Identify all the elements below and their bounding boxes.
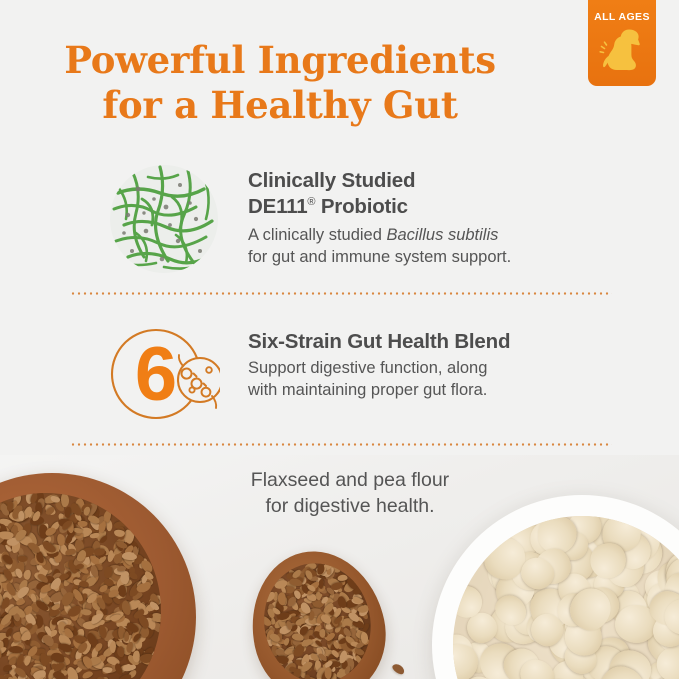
chickpea (485, 538, 526, 580)
flaxseed (319, 629, 325, 638)
feature-2-title: Six-Strain Gut Health Blend (248, 329, 613, 355)
desc-line-2: for gut and immune system support. (248, 248, 511, 266)
all-ages-badge: ALL AGES (588, 0, 656, 86)
sitting-dog-icon (599, 26, 645, 79)
caption-line-2: for digestive health. (190, 493, 510, 519)
page-title: Powerful Ingredients for a Healthy Gut (0, 38, 560, 128)
species-name: Bacillus subtilis (387, 226, 499, 244)
title-line-2: for a Healthy Gut (0, 83, 560, 128)
flaxseed (102, 667, 113, 673)
flaxseed (344, 665, 351, 675)
flaxseed (278, 592, 287, 605)
feature-1-description: A clinically studied Bacillus subtilis f… (248, 225, 613, 269)
flaxseed (325, 668, 332, 679)
bacteria-microscopy-icon (103, 163, 225, 275)
svg-text:6: 6 (135, 332, 177, 417)
desc-line-2: with maintaining proper gut flora. (248, 381, 487, 399)
flaxseed (18, 511, 24, 521)
flaxseed (140, 653, 155, 664)
six-strain-probiotic-icon: 6 (103, 322, 225, 428)
white-bowl-of-chickpeas (432, 495, 679, 679)
flaxseed (118, 585, 127, 597)
feature-six-strain-gut-health-blend: 6 (103, 322, 613, 428)
feature-1-title-line-2: DE111® Probiotic (248, 194, 613, 220)
flaxseed (304, 675, 310, 679)
flaxseed (133, 650, 140, 662)
feature-1-title-line-1: Clinically Studied (248, 168, 613, 194)
title-line-1: Powerful Ingredients (0, 38, 560, 83)
flaxseed (4, 627, 13, 638)
desc-prefix: A clinically studied (248, 226, 387, 244)
feature-clinically-studied-probiotic: Clinically Studied DE111® Probiotic A cl… (103, 163, 613, 275)
de111-text: DE111 (248, 195, 307, 218)
caption-line-1: Flaxseed and pea flour (190, 467, 510, 493)
desc-line-1: Support digestive function, along (248, 359, 487, 377)
probiotic-text: Probiotic (315, 195, 408, 218)
infographic-page: ALL AGES (0, 0, 679, 679)
section-divider (70, 292, 612, 295)
feature-2-description: Support digestive function, along with m… (248, 358, 613, 402)
all-ages-label: ALL AGES (594, 12, 650, 23)
flaxseed (60, 493, 69, 507)
bottom-caption: Flaxseed and pea flour for digestive hea… (190, 467, 510, 519)
section-divider (70, 443, 612, 446)
flaxseed (23, 568, 32, 579)
flaxseed (81, 670, 93, 679)
